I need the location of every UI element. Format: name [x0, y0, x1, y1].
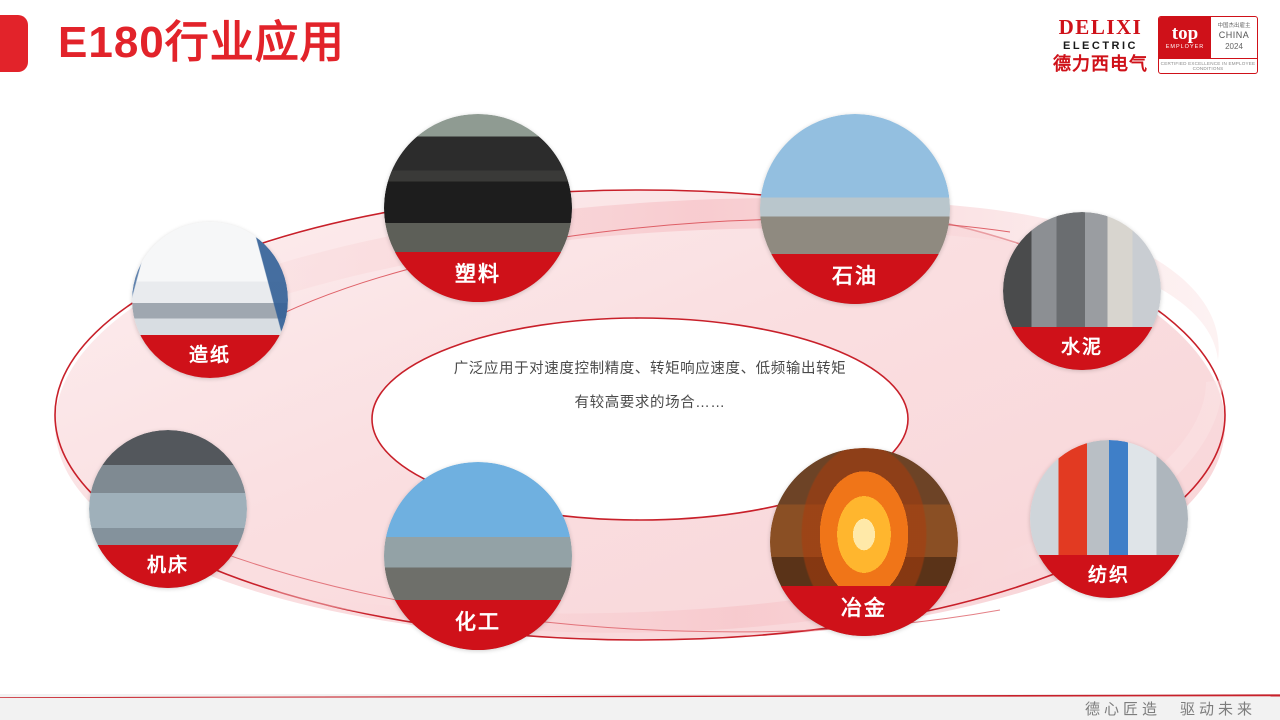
badge-year: 2024 [1225, 42, 1243, 52]
industry-label-machine: 机床 [89, 545, 247, 588]
slide-canvas: E180行业应用 DELIXI ELECTRIC 德力西电气 top EMPLO… [0, 0, 1280, 720]
badge-country: CHINA [1219, 30, 1250, 41]
badge-top-row: top EMPLOYER 中国杰出雇主 CHINA 2024 [1159, 17, 1257, 58]
badge-info: 中国杰出雇主 CHINA 2024 [1211, 17, 1257, 58]
top-employer-badge: top EMPLOYER 中国杰出雇主 CHINA 2024 CERTIFIED… [1158, 16, 1258, 74]
center-description: 广泛应用于对速度控制精度、转矩响应速度、低频输出转矩 有较高要求的场合…… [400, 352, 900, 420]
title-accent-bar [0, 15, 28, 72]
industry-label-textile: 纺织 [1030, 555, 1188, 598]
badge-chinese-line: 中国杰出雇主 [1217, 23, 1250, 30]
industry-node-textile[interactable]: 纺织 [1030, 440, 1188, 598]
industry-label-paper: 造纸 [132, 335, 288, 378]
industry-node-machine[interactable]: 机床 [89, 430, 247, 588]
industry-label-metal: 冶金 [770, 586, 958, 636]
brand-logo: DELIXI ELECTRIC 德力西电气 top EMPLOYER 中国杰出雇… [1053, 16, 1258, 74]
brand-subtitle: ELECTRIC [1063, 41, 1138, 52]
center-description-line2: 有较高要求的场合…… [400, 386, 900, 420]
industry-node-plastic[interactable]: 塑料 [384, 114, 572, 302]
badge-word-sub: EMPLOYER [1166, 45, 1205, 51]
industry-label-oil: 石油 [760, 254, 950, 304]
industry-node-metal[interactable]: 冶金 [770, 448, 958, 636]
badge-word: top [1172, 24, 1198, 43]
page-title: E180行业应用 [58, 17, 345, 69]
center-description-line1: 广泛应用于对速度控制精度、转矩响应速度、低频输出转矩 [400, 352, 900, 386]
industry-node-paper[interactable]: 造纸 [132, 222, 288, 378]
industry-label-plastic: 塑料 [384, 252, 572, 302]
badge-caption: CERTIFIED EXCELLENCE IN EMPLOYEE CONDITI… [1159, 58, 1257, 73]
industry-node-chem[interactable]: 化工 [384, 462, 572, 650]
footer-slogan: 德心匠造 驱动未来 [1085, 698, 1256, 719]
brand-name: DELIXI [1059, 17, 1143, 38]
delixi-logo: DELIXI ELECTRIC 德力西电气 [1053, 17, 1148, 73]
industry-label-chem: 化工 [384, 600, 572, 650]
industry-node-cement[interactable]: 水泥 [1003, 212, 1161, 370]
brand-name-chinese: 德力西电气 [1053, 55, 1148, 73]
industry-label-cement: 水泥 [1003, 327, 1161, 370]
industry-node-oil[interactable]: 石油 [760, 114, 950, 304]
badge-top-mark: top EMPLOYER [1159, 17, 1211, 58]
